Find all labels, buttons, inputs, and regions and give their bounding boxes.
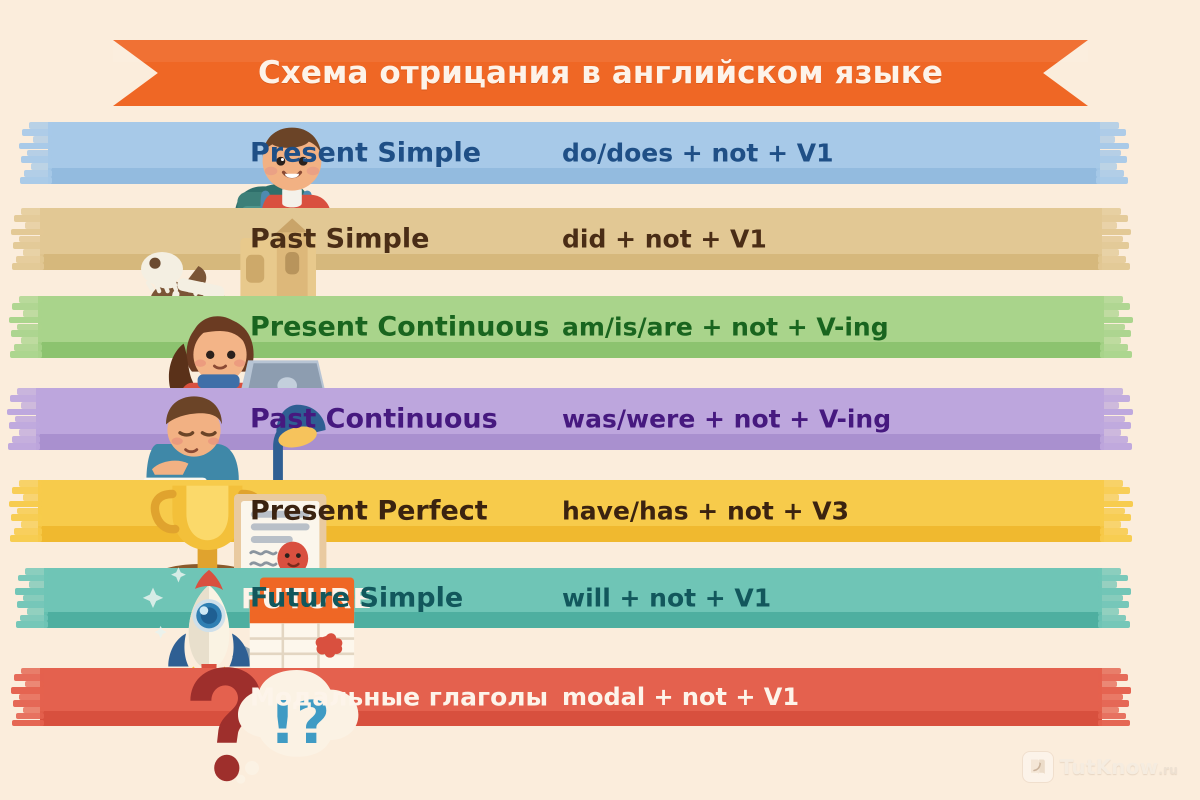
- question-mark-thought-bubble-icon: !?: [108, 656, 268, 738]
- tense-row: Present Simpledo/does + not + V1: [0, 122, 1200, 184]
- band-brush-edge-left: [10, 668, 44, 726]
- negation-formula: have/has + not + V3: [562, 497, 849, 526]
- page-title: Схема отрицания в английском языке: [113, 40, 1088, 106]
- band-brush-edge-left: [18, 122, 52, 184]
- tense-label: Past Continuous: [250, 404, 498, 435]
- tense-row: Present Perfecthave/has + not + V3: [0, 480, 1200, 542]
- tense-row: !? Модальные глаголыmodal + not + V1: [0, 668, 1200, 726]
- schoolboy-with-backpack-icon: [120, 108, 270, 188]
- tense-row: Past Simpledid + not + V1: [0, 208, 1200, 270]
- negation-formula: am/is/are + not + V-ing: [562, 313, 889, 342]
- watermark-text: TutKnow.ru: [1060, 755, 1178, 779]
- tense-label: Present Continuous: [250, 312, 549, 343]
- band-brush-edge-right: [1100, 480, 1134, 542]
- negation-formula: did + not + V1: [562, 225, 767, 254]
- watermark: TutKnow.ru: [1023, 752, 1178, 782]
- band-brush-edge-left: [14, 568, 48, 628]
- watermark-name: TutKnow: [1060, 755, 1159, 779]
- negation-formula: modal + not + V1: [562, 683, 799, 711]
- tense-label: Present Simple: [250, 138, 481, 169]
- band-brush-edge-right: [1098, 208, 1132, 270]
- band-brush-edge-right: [1100, 388, 1134, 450]
- tense-row: Past Continuouswas/were + not + V-ing: [0, 388, 1200, 450]
- band-brush-edge-right: [1098, 668, 1132, 726]
- watermark-tld: .ru: [1158, 763, 1178, 777]
- band-brush-edge-left: [10, 208, 44, 270]
- negation-formula: will + not + V1: [562, 584, 771, 613]
- band-brush-edge-right: [1098, 568, 1132, 628]
- tutknow-book-logo-icon: [1023, 752, 1053, 782]
- tense-label: Future Simple: [250, 583, 463, 614]
- tense-label: Present Perfect: [250, 496, 488, 527]
- band-brush-edge-left: [8, 296, 42, 358]
- tense-row: FUTURE Future Simplewill + not + V1: [0, 568, 1200, 628]
- band-brush-edge-left: [6, 388, 40, 450]
- band-brush-edge-left: [8, 480, 42, 542]
- infographic-poster: Схема отрицания в английском языке: [0, 0, 1200, 800]
- tense-label: Past Simple: [250, 224, 429, 255]
- band-brush-edge-right: [1096, 122, 1130, 184]
- tense-row: Present Continuousam/is/are + not + V-in…: [0, 296, 1200, 358]
- title-ribbon: Схема отрицания в английском языке: [113, 40, 1088, 106]
- negation-formula: was/were + not + V-ing: [562, 405, 891, 434]
- band-brush-edge-right: [1100, 296, 1134, 358]
- negation-formula: do/does + not + V1: [562, 139, 833, 168]
- tense-label: Модальные глаголы: [250, 683, 548, 712]
